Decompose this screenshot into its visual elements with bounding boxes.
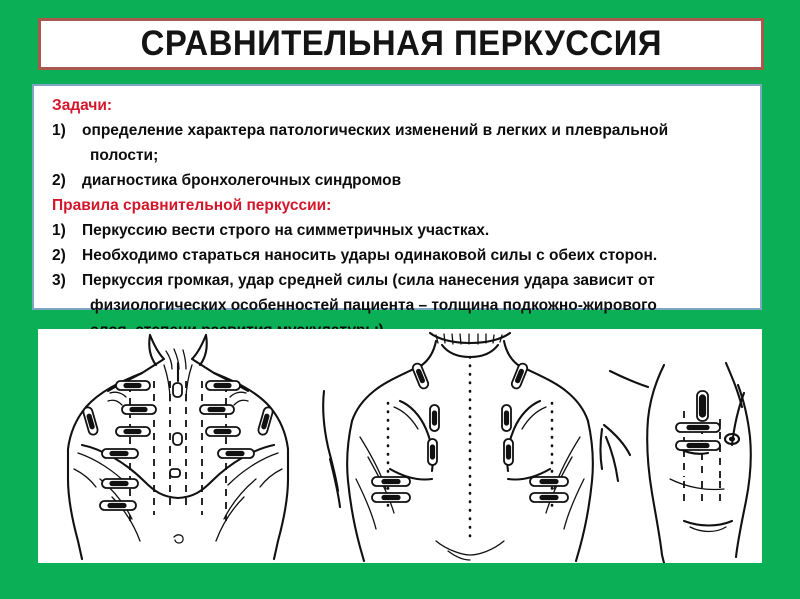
percussion-marker [200, 405, 234, 414]
list-item: 3) Перкуссия громкая, удар средней силы … [44, 268, 750, 293]
percussion-marker [206, 427, 240, 436]
section-heading-tasks: Задачи: [44, 93, 750, 118]
list-item: 2) диагностика бронхолегочных синдромов [44, 168, 750, 193]
page-title: СРАВНИТЕЛЬНАЯ ПЕРКУССИЯ [140, 24, 661, 64]
title-banner: СРАВНИТЕЛЬНАЯ ПЕРКУССИЯ [38, 18, 764, 70]
list-item-text: Необходимо стараться наносить удары один… [82, 243, 750, 268]
percussion-marker [372, 477, 410, 486]
percussion-marker [102, 449, 138, 458]
percussion-marker [676, 423, 720, 432]
list-item-text: Перкуссия громкая, удар средней силы (си… [82, 268, 750, 293]
percussion-marker [218, 449, 254, 458]
list-item-text: диагностика бронхолегочных синдромов [82, 168, 750, 193]
percussion-marker [173, 433, 182, 445]
percussion-marker [102, 479, 138, 488]
list-item-number: 2) [52, 243, 82, 268]
percussion-marker [173, 383, 182, 397]
percussion-marker [510, 362, 528, 389]
percussion-marker [530, 493, 568, 502]
list-item-text: Перкуссию вести строго на симметричных у… [82, 218, 750, 243]
list-item-text-continuation: физиологических особенностей пациента – … [44, 293, 750, 318]
percussion-marker [504, 439, 513, 465]
anterior-chest-percussion-diagram [68, 335, 288, 559]
percussion-marker [697, 391, 708, 421]
percussion-marker [170, 469, 180, 477]
section-heading-rules: Правила сравнительной перкуссии: [44, 193, 750, 218]
percussion-marker [502, 405, 511, 431]
percussion-marker [428, 439, 437, 465]
list-item-text: определение характера патологических изм… [82, 118, 750, 143]
percussion-marker [530, 477, 568, 486]
percussion-marker [100, 501, 136, 510]
percussion-marker [411, 362, 429, 389]
lateral-axillary-percussion-diagram [601, 363, 751, 563]
list-item-number: 1) [52, 118, 82, 143]
list-item-number: 2) [52, 168, 82, 193]
list-item: 1) определение характера патологических … [44, 118, 750, 143]
content-text-panel: Задачи: 1) определение характера патолог… [32, 84, 762, 310]
percussion-figures-svg: .ln { fill:none; stroke:#111; stroke-wid… [38, 329, 762, 563]
list-item: 2) Необходимо стараться наносить удары о… [44, 243, 750, 268]
percussion-marker [82, 406, 98, 435]
list-item: 1) Перкуссию вести строго на симметричны… [44, 218, 750, 243]
percussion-marker [116, 427, 150, 436]
list-item-number: 1) [52, 218, 82, 243]
percussion-marker [430, 405, 439, 431]
percussion-marker [116, 381, 150, 390]
list-item-number: 3) [52, 268, 82, 293]
percussion-marker [372, 493, 410, 502]
percussion-marker [206, 381, 240, 390]
percussion-marker [676, 441, 720, 450]
list-item-text-continuation: полости; [44, 143, 750, 168]
posterior-back-percussion-diagram [323, 333, 593, 561]
percussion-marker [122, 405, 156, 414]
percussion-marker [257, 406, 273, 435]
illustration-panel: .ln { fill:none; stroke:#111; stroke-wid… [38, 329, 762, 563]
